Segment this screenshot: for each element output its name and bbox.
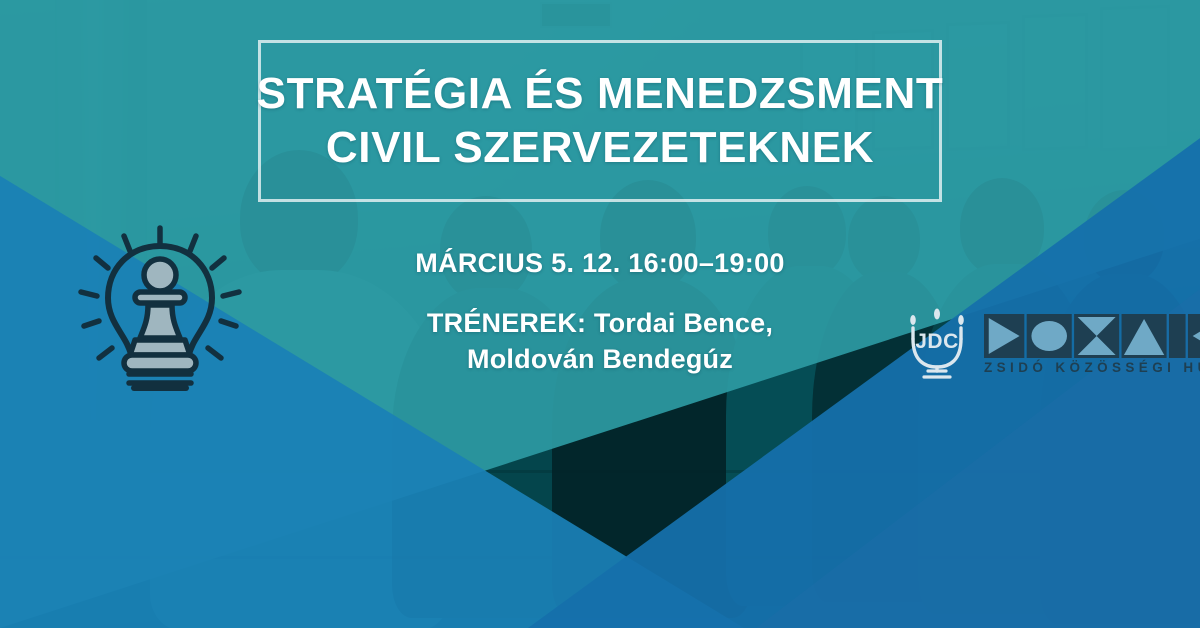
page-title-line-1: STRATÉGIA ÉS MENEDZSMENT <box>257 67 944 121</box>
page-title-line-2: CIVIL SZERVEZETEKNEK <box>326 121 874 175</box>
title-frame: STRATÉGIA ÉS MENEDZSMENT CIVIL SZERVEZET… <box>258 40 942 202</box>
logo-lockup: JDC <box>900 302 1178 386</box>
event-details: MÁRCIUS 5. 12. 16:00–19:00 TRÉNEREK: Tor… <box>300 248 900 377</box>
event-poster: STRATÉGIA ÉS MENEDZSMENT CIVIL SZERVEZET… <box>0 0 1200 628</box>
chess-pawn-shape <box>124 259 196 371</box>
event-trainers-line-1: TRÉNEREK: Tordai Bence, <box>300 305 900 341</box>
lightbulb-with-chess-pawn-icon <box>72 222 248 394</box>
jdc-wordmark: JDC <box>915 330 959 353</box>
event-trainers: TRÉNEREK: Tordai Bence, Moldován Bendegú… <box>300 305 900 377</box>
mozaik-wordmark <box>984 314 1200 358</box>
event-trainers-line-2: Moldován Bendegúz <box>300 341 900 377</box>
mozaik-logo: ZSIDÓ KÖZÖSSÉGI HUB <box>984 314 1200 375</box>
jdc-menorah-logo: JDC <box>900 307 974 381</box>
mozaik-tagline: ZSIDÓ KÖZÖSSÉGI HUB <box>984 360 1200 375</box>
event-date-time: MÁRCIUS 5. 12. 16:00–19:00 <box>300 248 900 279</box>
